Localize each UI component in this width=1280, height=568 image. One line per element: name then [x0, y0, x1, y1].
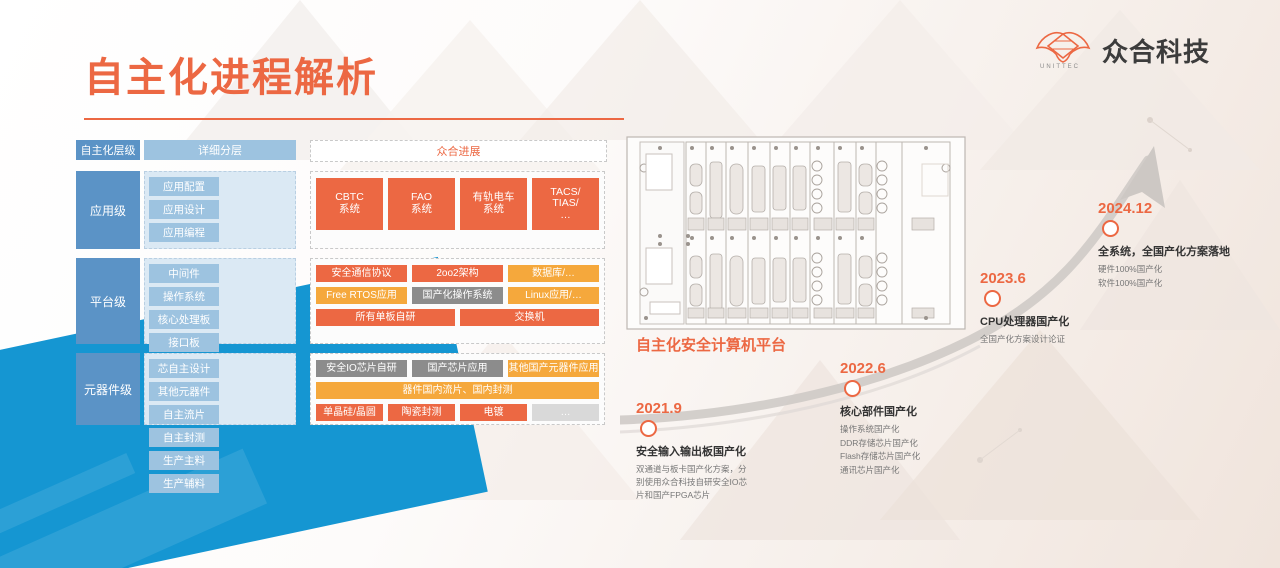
timeline-node-1: 2022.6 核心部件国产化 操作系统国产化 DDR存储芯片国产化 Flash存… — [840, 360, 920, 477]
progress-chip[interactable]: 交换机 — [460, 309, 599, 326]
progress-chip[interactable]: Linux应用/… — [508, 287, 599, 304]
detail-chip[interactable]: 自主封测 — [149, 428, 219, 447]
progress-cell-1: 安全通信协议2oo2架构数据库/…Free RTOS应用国产化操作系统Linux… — [310, 258, 605, 344]
detail-chip[interactable]: 核心处理板 — [149, 310, 219, 329]
table-row: 应用级应用配置应用设计应用编程CBTC系统FAO系统有轨电车系统TACS/TIA… — [76, 171, 607, 249]
chip-text: 数据库/… — [532, 268, 575, 279]
progress-row: CBTC系统FAO系统有轨电车系统TACS/TIAS/… — [316, 178, 599, 230]
progress-cell-2: 安全IO芯片自研国产芯片应用其他国产元器件应用器件国内流片、国内封测单晶硅/晶圆… — [310, 353, 605, 425]
progress-chip[interactable]: 所有单板自研 — [316, 309, 455, 326]
timeline-year: 2022.6 — [840, 360, 920, 377]
timeline-year: 2021.9 — [636, 400, 754, 417]
chip-text: 交换机 — [515, 312, 545, 323]
detail-chip[interactable]: 中间件 — [149, 264, 219, 283]
progress-chip[interactable]: 其他国产元器件应用 — [508, 360, 599, 377]
timeline-line: DDR存储芯片国产化 — [840, 437, 920, 451]
timeline-headline: 核心部件国产化 — [840, 403, 920, 419]
progress-chip[interactable]: … — [532, 404, 599, 421]
timeline-year: 2024.12 — [1098, 200, 1230, 217]
header-detail: 详细分层 — [144, 140, 296, 160]
progress-chip[interactable]: 有轨电车系统 — [460, 178, 527, 230]
detail-cell-2: 芯自主设计其他元器件自主流片自主封测生产主料生产辅料 — [144, 353, 296, 425]
progress-chip[interactable]: 安全IO芯片自研 — [316, 360, 407, 377]
timeline-line: 硬件100%国产化 — [1098, 263, 1230, 277]
timeline-headline: 全系统，全国产化方案落地 — [1098, 243, 1230, 259]
timeline-line: 操作系统国产化 — [840, 423, 920, 437]
progress-row: 安全IO芯片自研国产芯片应用其他国产元器件应用 — [316, 360, 599, 377]
progress-row: 器件国内流片、国内封测 — [316, 382, 599, 399]
logo-subtext: UNITTEC — [1040, 64, 1080, 70]
progress-row: 安全通信协议2oo2架构数据库/… — [316, 265, 599, 282]
level-label-1: 平台级 — [76, 258, 140, 344]
progress-chip[interactable]: 电镀 — [460, 404, 527, 421]
timeline-dot-icon — [844, 380, 861, 397]
logo-mark-icon: UNITTEC — [1034, 28, 1092, 72]
detail-chip[interactable]: 操作系统 — [149, 287, 219, 306]
timeline-headline: 安全输入输出板国产化 — [636, 443, 754, 459]
detail-chip[interactable]: 自主流片 — [149, 405, 219, 424]
chip-text: 系统 — [339, 204, 360, 216]
chip-text: Linux应用/… — [525, 290, 582, 301]
chip-text: 系统 — [411, 204, 432, 216]
progress-chip[interactable]: CBTC系统 — [316, 178, 383, 230]
progress-chip[interactable]: 器件国内流片、国内封测 — [316, 382, 599, 399]
page-title: 自主化进程解析 — [84, 45, 378, 103]
chip-text: 单晶硅/晶圆 — [323, 407, 376, 418]
table-row: 元器件级芯自主设计其他元器件自主流片自主封测生产主料生产辅料安全IO芯片自研国产… — [76, 353, 607, 425]
chip-text: 其他国产元器件应用 — [509, 363, 599, 374]
safety-computer-photo — [626, 136, 966, 330]
title-underline — [84, 118, 624, 120]
chip-text: Free RTOS应用 — [326, 290, 397, 301]
timeline-dot-icon — [1102, 220, 1119, 237]
table-body: 应用级应用配置应用设计应用编程CBTC系统FAO系统有轨电车系统TACS/TIA… — [76, 171, 607, 425]
detail-chip[interactable]: 应用配置 — [149, 177, 219, 196]
chip-text: 安全通信协议 — [332, 268, 392, 279]
detail-chip[interactable]: 接口板 — [149, 333, 219, 352]
progress-chip[interactable]: 国产芯片应用 — [412, 360, 503, 377]
detail-chip[interactable]: 应用编程 — [149, 223, 219, 242]
chip-text: … — [560, 210, 571, 222]
timeline-dot-icon — [640, 420, 657, 437]
photo-caption: 自主化安全计算机平台 — [636, 334, 786, 355]
progress-row: Free RTOS应用国产化操作系统Linux应用/… — [316, 287, 599, 304]
timeline-node-3: 2024.12 全系统，全国产化方案落地 硬件100%国产化 软件100%国产化 — [1098, 200, 1230, 290]
timeline-line: Flash存储芯片国产化 — [840, 450, 920, 464]
chip-text: 国产芯片应用 — [428, 363, 488, 374]
progress-chip[interactable]: FAO系统 — [388, 178, 455, 230]
autonomy-table: 自主化层级 详细分层 众合进展 应用级应用配置应用设计应用编程CBTC系统FAO… — [76, 140, 607, 434]
chip-text: 系统 — [483, 204, 504, 216]
progress-chip[interactable]: 2oo2架构 — [412, 265, 503, 282]
progress-chip[interactable]: 单晶硅/晶圆 — [316, 404, 383, 421]
company-logo: UNITTEC 众合科技 — [1034, 28, 1210, 72]
level-label-2: 元器件级 — [76, 353, 140, 425]
level-label-0: 应用级 — [76, 171, 140, 249]
chip-text: 2oo2架构 — [436, 268, 478, 279]
chip-text: 器件国内流片、国内封测 — [403, 385, 513, 396]
progress-cell-0: CBTC系统FAO系统有轨电车系统TACS/TIAS/… — [310, 171, 605, 249]
timeline-headline: CPU处理器国产化 — [980, 313, 1069, 329]
timeline-node-2: 2023.6 CPU处理器国产化 全国产化方案设计论证 — [980, 270, 1069, 347]
detail-chip[interactable]: 生产主料 — [149, 451, 219, 470]
detail-cell-1: 中间件操作系统核心处理板接口板 — [144, 258, 296, 344]
progress-chip[interactable]: TACS/TIAS/… — [532, 178, 599, 230]
chip-text: … — [561, 407, 571, 418]
timeline-line: 通讯芯片国产化 — [840, 464, 920, 478]
progress-chip[interactable]: 国产化操作系统 — [412, 287, 503, 304]
timeline-line: 全国产化方案设计论证 — [980, 333, 1069, 347]
chip-text: 陶瓷封测 — [402, 407, 442, 418]
table-header-row: 自主化层级 详细分层 众合进展 — [76, 140, 607, 162]
detail-chip[interactable]: 应用设计 — [149, 200, 219, 219]
progress-chip[interactable]: 陶瓷封测 — [388, 404, 455, 421]
chip-text: 所有单板自研 — [356, 312, 416, 323]
chassis-illustration — [626, 136, 966, 330]
progress-chip[interactable]: Free RTOS应用 — [316, 287, 407, 304]
detail-chip[interactable]: 生产辅料 — [149, 474, 219, 493]
progress-chip[interactable]: 数据库/… — [508, 265, 599, 282]
progress-chip[interactable]: 安全通信协议 — [316, 265, 407, 282]
logo-butterfly-icon — [1034, 28, 1092, 68]
chip-text: 国产化操作系统 — [423, 290, 493, 301]
timeline-line: 双通道与板卡国产化方案，分别使用众合科技自研安全IO芯片和国产FPGA芯片 — [636, 463, 754, 503]
header-level: 自主化层级 — [76, 140, 140, 160]
timeline-node-0: 2021.9 安全输入输出板国产化 双通道与板卡国产化方案，分别使用众合科技自研… — [636, 400, 754, 503]
detail-chip[interactable]: 其他元器件 — [149, 382, 219, 401]
chip-text: 电镀 — [484, 407, 504, 418]
header-progress: 众合进展 — [310, 140, 607, 162]
timeline-line: 软件100%国产化 — [1098, 277, 1230, 291]
chip-text: 安全IO芯片自研 — [326, 363, 397, 374]
progress-row: 单晶硅/晶圆陶瓷封测电镀… — [316, 404, 599, 421]
detail-cell-0: 应用配置应用设计应用编程 — [144, 171, 296, 249]
timeline-year: 2023.6 — [980, 270, 1069, 287]
timeline-dot-icon — [984, 290, 1001, 307]
table-row: 平台级中间件操作系统核心处理板接口板安全通信协议2oo2架构数据库/…Free … — [76, 258, 607, 344]
progress-row: 所有单板自研交换机 — [316, 309, 599, 326]
logo-name: 众合科技 — [1102, 32, 1210, 69]
detail-chip[interactable]: 芯自主设计 — [149, 359, 219, 378]
